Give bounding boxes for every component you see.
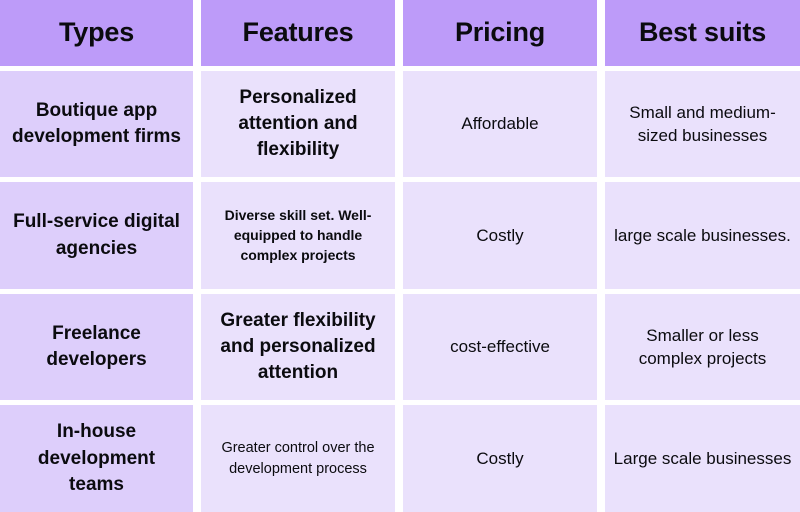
cell-pricing: Costly: [403, 405, 597, 512]
cell-text: Diverse skill set. Well-equipped to hand…: [209, 206, 387, 266]
column-header-pricing: Pricing: [403, 0, 597, 66]
cell-best-suits: Smaller or less complex projects: [605, 294, 800, 401]
table-header-row: Types Features Pricing Best suits: [0, 0, 800, 66]
column-header-label: Pricing: [411, 18, 589, 48]
column-header-label: Features: [209, 18, 387, 48]
cell-features: Greater control over the development pro…: [201, 405, 395, 512]
cell-features: Greater flexibility and personalized att…: [201, 294, 395, 401]
cell-text: Smaller or less complex projects: [613, 324, 792, 371]
cell-text: Small and medium-sized businesses: [613, 101, 792, 148]
table-row: Full-service digital agencies Diverse sk…: [0, 182, 800, 289]
cell-best-suits: Small and medium-sized businesses: [605, 71, 800, 178]
cell-text: cost-effective: [411, 335, 589, 358]
cell-features: Diverse skill set. Well-equipped to hand…: [201, 182, 395, 289]
cell-types: Freelance developers: [0, 294, 193, 401]
column-header-features: Features: [201, 0, 395, 66]
cell-features: Personalized attention and flexibility: [201, 71, 395, 178]
cell-text: large scale businesses.: [613, 224, 792, 247]
cell-text: Greater flexibility and personalized att…: [209, 308, 387, 387]
cell-text: Freelance developers: [8, 321, 185, 373]
column-header-types: Types: [0, 0, 193, 66]
cell-text: Boutique app development firms: [8, 98, 185, 150]
table-row: Boutique app development firms Personali…: [0, 71, 800, 178]
cell-pricing: cost-effective: [403, 294, 597, 401]
table-row: Freelance developers Greater flexibility…: [0, 294, 800, 401]
cell-text: Greater control over the development pro…: [209, 438, 387, 480]
cell-types: Full-service digital agencies: [0, 182, 193, 289]
column-header-label: Types: [8, 18, 185, 48]
cell-best-suits: Large scale businesses: [605, 405, 800, 512]
cell-text: Costly: [411, 224, 589, 247]
comparison-table: Types Features Pricing Best suits Boutiq…: [0, 0, 800, 512]
cell-types: In-house development teams: [0, 405, 193, 512]
cell-pricing: Affordable: [403, 71, 597, 178]
cell-text: Affordable: [411, 112, 589, 135]
cell-best-suits: large scale businesses.: [605, 182, 800, 289]
cell-text: Costly: [411, 447, 589, 470]
table-row: In-house development teams Greater contr…: [0, 405, 800, 512]
column-header-best-suits: Best suits: [605, 0, 800, 66]
cell-text: Full-service digital agencies: [8, 209, 185, 261]
cell-text: Personalized attention and flexibility: [209, 85, 387, 164]
cell-types: Boutique app development firms: [0, 71, 193, 178]
cell-pricing: Costly: [403, 182, 597, 289]
cell-text: Large scale businesses: [613, 447, 792, 470]
cell-text: In-house development teams: [8, 419, 185, 498]
column-header-label: Best suits: [613, 18, 792, 48]
